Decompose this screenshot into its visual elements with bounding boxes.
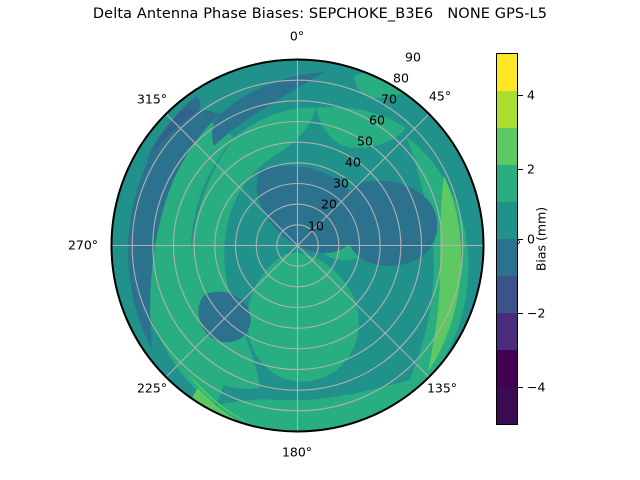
r-label-50: 50	[357, 134, 373, 149]
theta-label-0: 0°	[290, 29, 304, 44]
r-label-10: 10	[308, 219, 324, 234]
theta-label-315: 315°	[137, 92, 167, 107]
colorbar-gradient	[496, 53, 518, 425]
r-label-20: 20	[321, 197, 337, 212]
polar-contour-plot	[110, 58, 485, 433]
colorbar-band-2	[497, 128, 517, 165]
colorbar-tick-mark-minus4	[518, 387, 523, 388]
colorbar-ticklabel-minus2: −2	[527, 306, 545, 321]
r-label-70: 70	[381, 92, 397, 107]
r-label-80: 80	[393, 71, 409, 86]
colorbar-band-6	[497, 276, 517, 313]
colorbar-ticklabel-4: 4	[527, 88, 535, 103]
colorbar-band-7	[497, 313, 517, 350]
theta-label-270: 270°	[68, 238, 98, 253]
theta-label-225: 225°	[137, 381, 167, 396]
colorbar-band-3	[497, 165, 517, 202]
theta-label-45: 45°	[429, 89, 451, 104]
theta-label-180: 180°	[282, 445, 312, 460]
figure-canvas: Delta Antenna Phase Biases: SEPCHOKE_B3E…	[0, 0, 640, 480]
r-label-90: 90	[405, 50, 421, 65]
colorbar-tick-mark-minus2	[518, 313, 523, 314]
colorbar-band-4	[497, 202, 517, 239]
colorbar-tick-mark-0	[518, 239, 523, 240]
colorbar[interactable]: 4 2 0 −2 −4	[496, 53, 518, 425]
r-label-30: 30	[333, 176, 349, 191]
colorbar-band-1	[497, 91, 517, 128]
polar-skyplot-axes[interactable]: 0° 45° 90° 135° 180° 225° 270° 315° 10 2…	[110, 58, 485, 433]
colorbar-band-5	[497, 239, 517, 276]
colorbar-tick-mark-4	[518, 95, 523, 96]
r-label-40: 40	[345, 155, 361, 170]
colorbar-band-8	[497, 350, 517, 387]
colorbar-ticklabel-minus4: −4	[527, 380, 545, 395]
r-label-60: 60	[369, 113, 385, 128]
colorbar-tick-mark-2	[518, 169, 523, 170]
polar-angular-grid	[112, 60, 484, 432]
page-title: Delta Antenna Phase Biases: SEPCHOKE_B3E…	[0, 6, 640, 22]
colorbar-band-0	[497, 54, 517, 91]
theta-label-135: 135°	[427, 381, 457, 396]
colorbar-ticklabel-2: 2	[527, 162, 535, 177]
colorbar-band-9	[497, 387, 517, 424]
colorbar-axis-label: Bias (mm)	[534, 207, 549, 271]
